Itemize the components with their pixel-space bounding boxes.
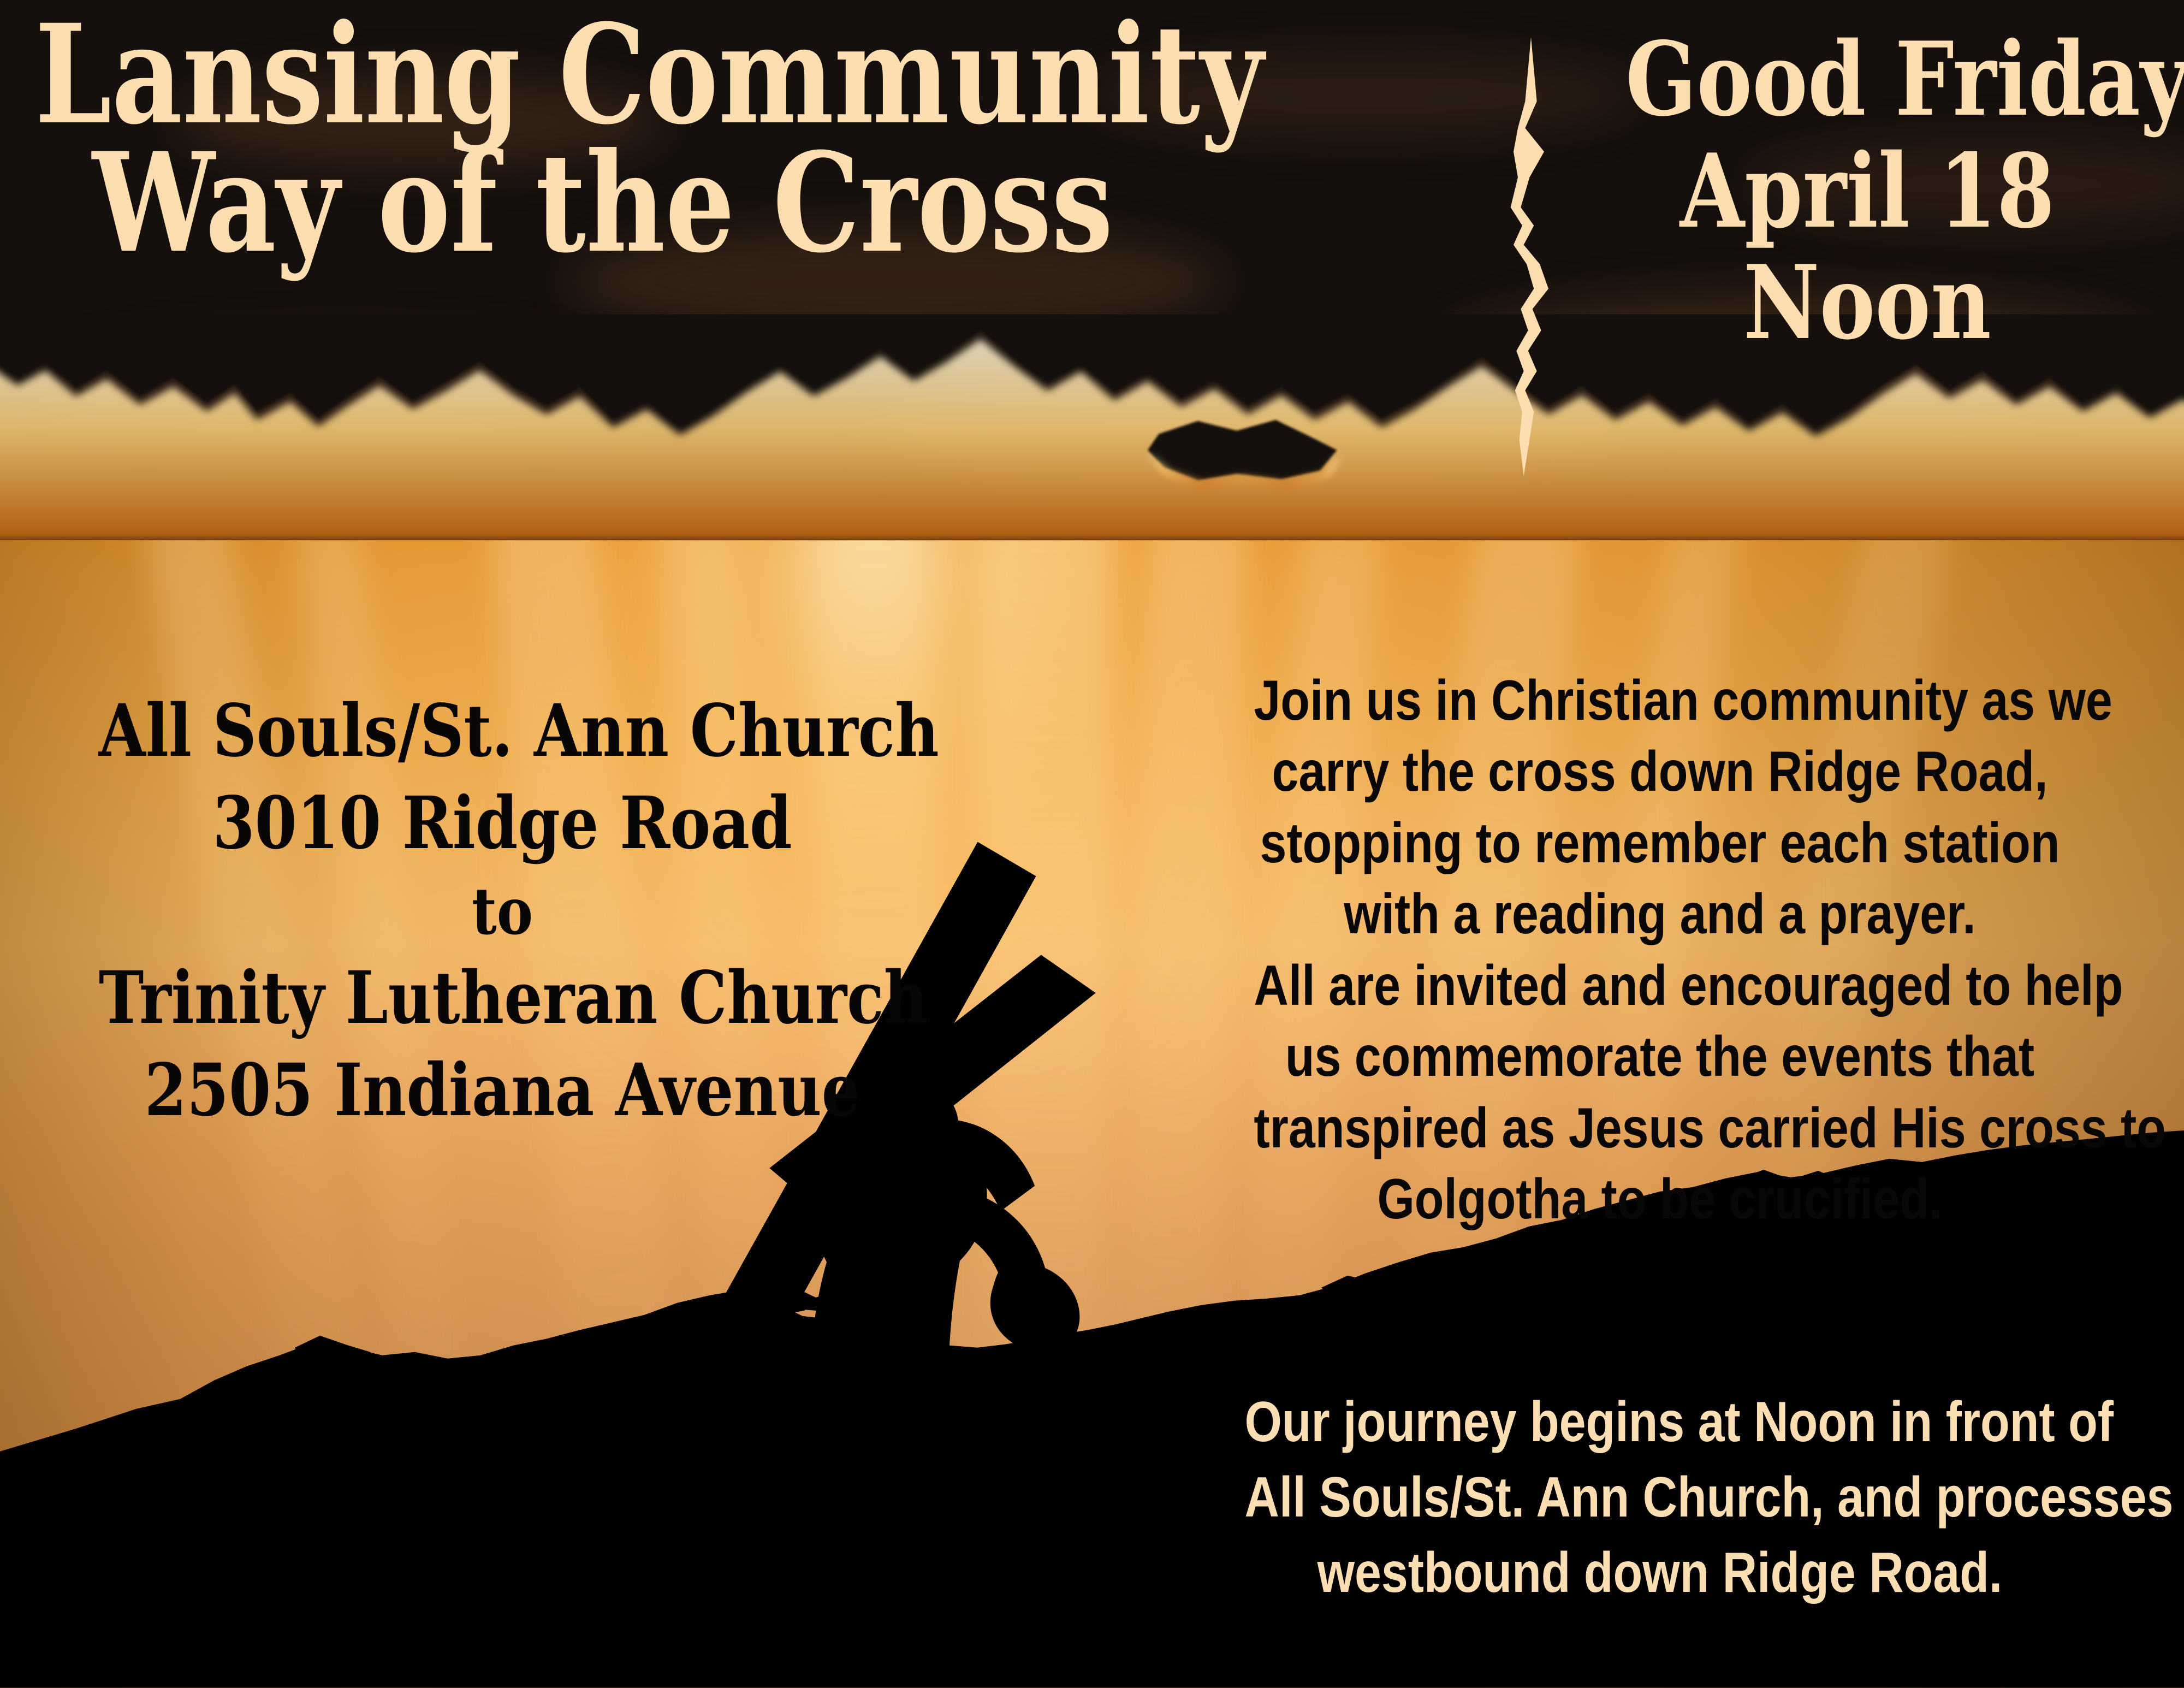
paragraph-line: transpired as Jesus carried His cross to bbox=[1254, 1093, 2066, 1164]
date-line-time: Noon bbox=[1625, 247, 2109, 359]
paragraph-line: Join us in Christian community as we bbox=[1254, 665, 2066, 737]
address-line-start-church: All Souls/St. Ann Church bbox=[99, 685, 906, 778]
paragraph-line: stopping to remember each station bbox=[1254, 808, 2066, 879]
procession-start-paragraph: Our journey begins at Noon in front of A… bbox=[1168, 1384, 2151, 1611]
address-line-end-street: 2505 Indiana Avenue bbox=[99, 1045, 906, 1137]
event-description-paragraph: Join us in Christian community as we car… bbox=[1179, 665, 2140, 1235]
paragraph-line: Golgotha to be crucified. bbox=[1254, 1164, 2066, 1235]
paragraph-line: us commemorate the events that bbox=[1254, 1021, 2066, 1093]
bottom-paragraph-line: westbound down Ridge Road. bbox=[1245, 1535, 2075, 1610]
address-line-end-church: Trinity Lutheran Church bbox=[99, 952, 906, 1045]
date-line-day: Good Friday bbox=[1625, 23, 2109, 135]
lightning-squiggle-divider-icon bbox=[1492, 37, 1579, 476]
event-date-block: Good Friday April 18 Noon bbox=[1572, 23, 2162, 359]
date-line-date: April 18 bbox=[1625, 135, 2109, 247]
bottom-paragraph-line: All Souls/St. Ann Church, and processes bbox=[1245, 1460, 2075, 1535]
title-line-2: Way of the Cross bbox=[92, 139, 1235, 267]
paragraph-line: carry the cross down Ridge Road, bbox=[1254, 736, 2066, 808]
poster-canvas: Lansing Community Way of the Cross Good … bbox=[0, 0, 2184, 1688]
address-line-start-street: 3010 Ridge Road bbox=[99, 778, 906, 870]
route-address-block: All Souls/St. Ann Church 3010 Ridge Road… bbox=[22, 685, 983, 1137]
page-title: Lansing Community Way of the Cross bbox=[35, 10, 1520, 267]
bottom-paragraph-line: Our journey begins at Noon in front of bbox=[1245, 1384, 2075, 1460]
paragraph-line: All are invited and encouraged to help bbox=[1254, 950, 2066, 1022]
title-line-1: Lansing Community bbox=[35, 10, 1223, 139]
address-line-connector: to bbox=[99, 870, 906, 952]
paragraph-line: with a reading and a prayer. bbox=[1254, 879, 2066, 950]
